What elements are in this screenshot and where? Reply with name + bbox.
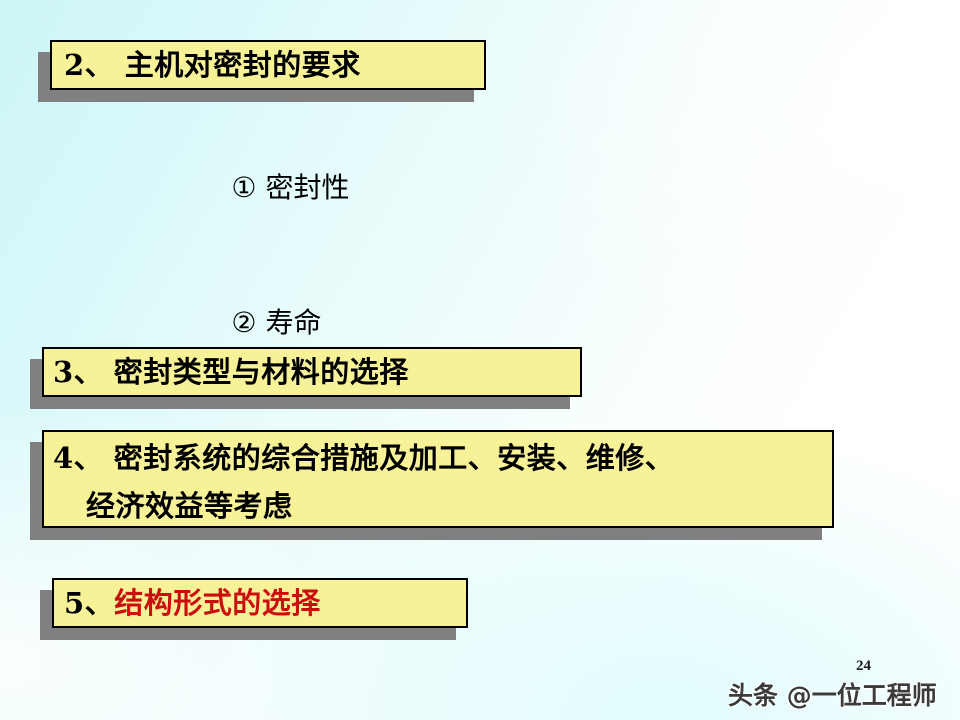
callout-box-5[interactable]: 5、结构形式的选择 <box>52 578 468 628</box>
callout-box-3[interactable]: 3、 密封类型与材料的选择 <box>42 347 582 397</box>
callout-box-4[interactable]: 4、 密封系统的综合措施及加工、安装、维修、 经济效益等考虑 <box>42 430 834 528</box>
callout-box-5-text: 5、结构形式的选择 <box>54 586 321 620</box>
list-marker-2: ② <box>231 306 256 339</box>
callout-box-4-line1: 4、 密封系统的综合措施及加工、安装、维修、 <box>44 432 832 480</box>
callout-box-5-title: 结构形式的选择 <box>114 586 321 620</box>
list-label-1: 密封性 <box>266 171 350 204</box>
slide-canvas: 2、 主机对密封的要求 ①密封性 ②寿命 ③结构尺寸的限制 ④可靠性和稳定性 3… <box>0 0 960 720</box>
list-marker-1: ① <box>231 171 256 204</box>
callout-box-2[interactable]: 2、 主机对密封的要求 <box>50 40 486 90</box>
list-item: ①密封性 <box>178 120 462 255</box>
callout-box-5-number: 5、 <box>64 586 114 620</box>
callout-box-3-text: 3、 密封类型与材料的选择 <box>44 355 409 389</box>
callout-box-4-line2: 经济效益等考虑 <box>44 480 832 528</box>
watermark-text: 头条 @一位工程师 <box>728 676 937 712</box>
callout-box-2-text: 2、 主机对密封的要求 <box>52 48 361 82</box>
list-label-2: 寿命 <box>266 306 322 339</box>
page-number: 24 <box>856 658 871 675</box>
